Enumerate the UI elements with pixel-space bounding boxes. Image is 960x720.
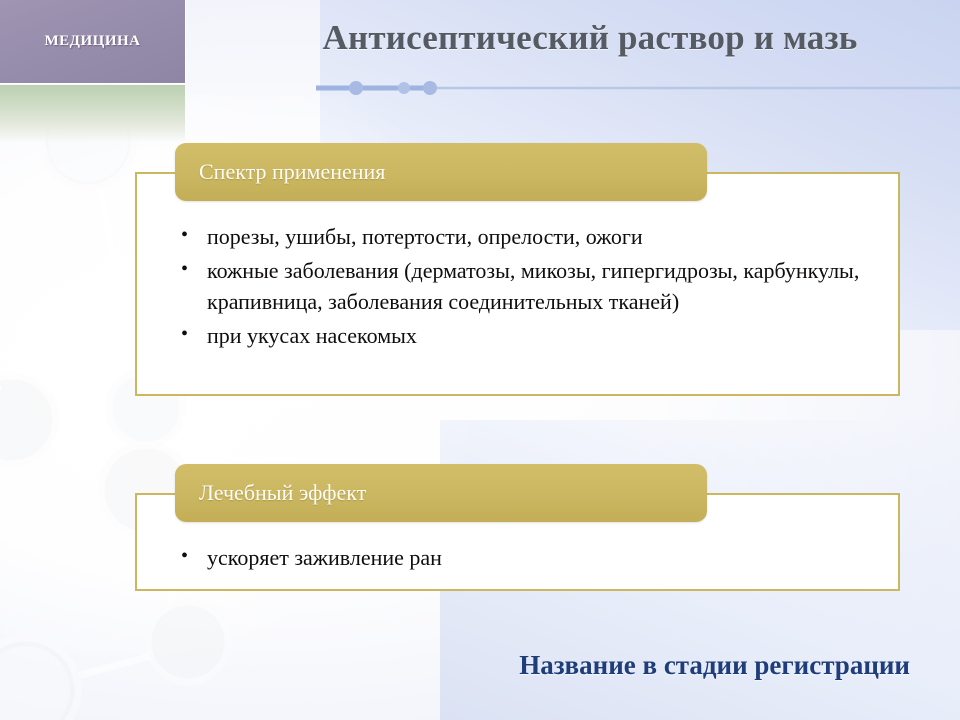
list-item: ускоряет заживление ран	[177, 542, 872, 573]
panel-spectrum: порезы, ушибы, потертости, опрелости, ож…	[135, 143, 900, 396]
category-badge-label: МЕДИЦИНА	[45, 33, 141, 50]
slide-canvas: МЕДИЦИНА Антисептический раствор и мазь …	[0, 0, 960, 720]
footer-note: Название в стадии регистрации	[0, 650, 910, 681]
panel-body: порезы, ушибы, потертости, опрелости, ож…	[137, 203, 898, 394]
bullet-list: порезы, ушибы, потертости, опрелости, ож…	[177, 221, 872, 351]
list-item: кожные заболевания (дерматозы, микозы, г…	[177, 255, 872, 317]
list-item: порезы, ушибы, потертости, опрелости, ож…	[177, 221, 872, 252]
list-item: при укусах насекомых	[177, 320, 872, 351]
title-divider-icon	[240, 80, 960, 96]
green-accent-strip	[0, 85, 185, 143]
panel-header-tab: Спектр применения	[175, 143, 707, 201]
panel-body: ускоряет заживление ран	[137, 524, 898, 589]
panel-heading: Лечебный эффект	[175, 480, 366, 506]
panel-header-tab: Лечебный эффект	[175, 464, 707, 522]
bullet-list: ускоряет заживление ран	[177, 542, 872, 573]
panel-therapeutic-effect: ускоряет заживление ран Лечебный эффект	[135, 464, 900, 591]
category-badge: МЕДИЦИНА	[0, 0, 186, 84]
page-title: Антисептический раствор и мазь	[240, 18, 940, 58]
panel-heading: Спектр применения	[175, 159, 385, 185]
